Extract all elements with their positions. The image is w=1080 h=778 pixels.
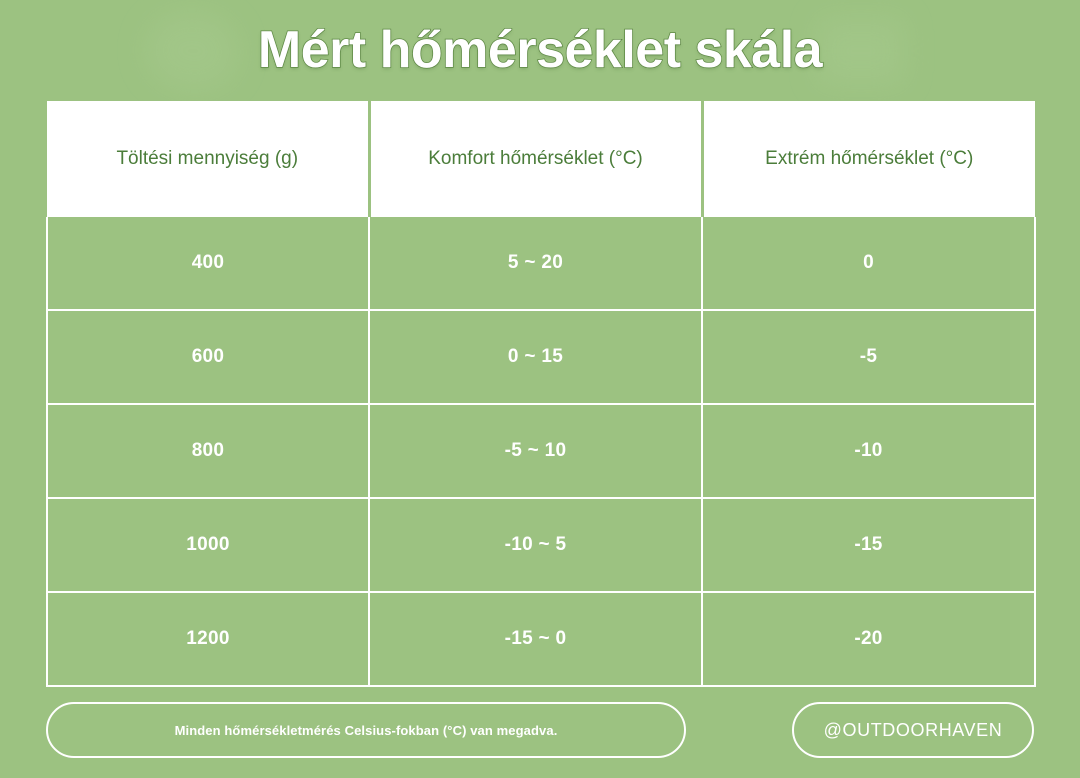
cell-fill-weight: 800 [47,404,369,498]
cell-comfort-temp: -5 ~ 10 [369,404,702,498]
column-header-fill-weight: Töltési mennyiség (g) [47,101,369,217]
cell-comfort-temp: -10 ~ 5 [369,498,702,592]
footnote-pill: Minden hőmérsékletmérés Celsius-fokban (… [46,702,686,758]
table-row: 400 5 ~ 20 0 [47,217,1035,310]
cell-fill-weight: 1000 [47,498,369,592]
page-title: Mért hőmérséklet skála [0,20,1080,80]
table-row: 1200 -15 ~ 0 -20 [47,592,1035,686]
cell-fill-weight: 600 [47,310,369,404]
table-header: Töltési mennyiség (g) Komfort hőmérsékle… [47,101,1035,217]
cell-extreme-temp: -20 [702,592,1035,686]
table-row: 1000 -10 ~ 5 -15 [47,498,1035,592]
social-handle-badge[interactable]: @OUTDOORHAVEN [792,702,1034,758]
cell-comfort-temp: 5 ~ 20 [369,217,702,310]
table-row: 800 -5 ~ 10 -10 [47,404,1035,498]
cell-fill-weight: 400 [47,217,369,310]
cell-comfort-temp: 0 ~ 15 [369,310,702,404]
table-header-row: Töltési mennyiség (g) Komfort hőmérsékle… [47,101,1035,217]
column-header-extreme-temp: Extrém hőmérséklet (°C) [702,101,1035,217]
table-row: 600 0 ~ 15 -5 [47,310,1035,404]
column-header-comfort-temp: Komfort hőmérséklet (°C) [369,101,702,217]
temperature-table: Töltési mennyiség (g) Komfort hőmérsékle… [46,101,1036,687]
cell-comfort-temp: -15 ~ 0 [369,592,702,686]
cell-extreme-temp: 0 [702,217,1035,310]
social-handle-text: @OUTDOORHAVEN [824,720,1003,741]
footnote-text: Minden hőmérsékletmérés Celsius-fokban (… [175,723,558,738]
cell-extreme-temp: -10 [702,404,1035,498]
cell-extreme-temp: -15 [702,498,1035,592]
cell-extreme-temp: -5 [702,310,1035,404]
table-body: 400 5 ~ 20 0 600 0 ~ 15 -5 800 -5 ~ 10 -… [47,217,1035,686]
cell-fill-weight: 1200 [47,592,369,686]
infographic-page: Mért hőmérséklet skála Töltési mennyiség… [0,0,1080,778]
